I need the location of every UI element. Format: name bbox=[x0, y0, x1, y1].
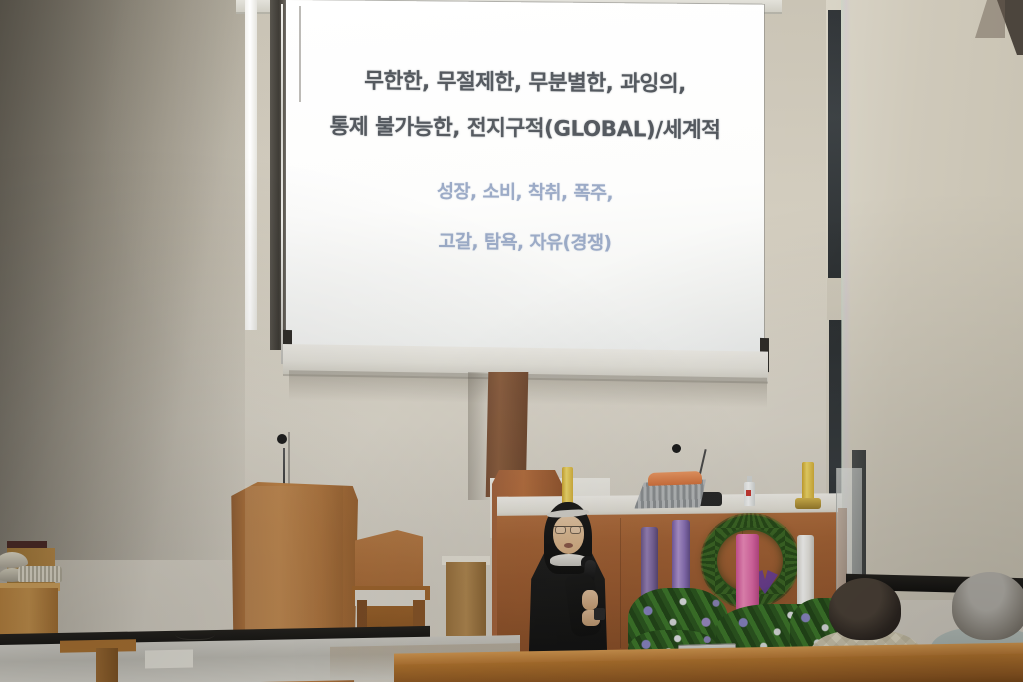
floor-paper bbox=[145, 650, 193, 669]
speaker-hand-upper bbox=[582, 590, 598, 610]
wall-shadow-left bbox=[0, 0, 245, 560]
lectern-microphone-head-icon bbox=[277, 434, 287, 444]
slide-content: 무한한, 무절제한, 무분별한, 과잉의, 통제 불가능한, 전지구적(GLOB… bbox=[286, 0, 764, 357]
brass-candlestick bbox=[795, 498, 821, 509]
screen-side-strip bbox=[245, 0, 257, 330]
liturgical-vessel-3 bbox=[18, 566, 62, 582]
pew-left-leg bbox=[96, 648, 118, 682]
slide-line-3: 성장, 소비, 착취, 폭주, bbox=[286, 166, 764, 221]
speaker-face bbox=[553, 516, 584, 554]
audience-member-1-head bbox=[829, 578, 901, 640]
scene-photograph: 무한한, 무절제한, 무분별한, 과잉의, 통제 불가능한, 전지구적(GLOB… bbox=[0, 0, 1023, 682]
screen-left-frame bbox=[270, 0, 286, 350]
presenter-remote[interactable] bbox=[594, 608, 605, 620]
wall-stripe-upper bbox=[828, 10, 841, 278]
side-stand bbox=[446, 562, 486, 636]
slide-line-4: 고갈, 탐욕, 자유(경쟁) bbox=[286, 216, 764, 271]
speaker-mouth bbox=[564, 543, 573, 548]
slide-line-1: 무한한, 무절제한, 무분별한, 과잉의, bbox=[286, 58, 764, 109]
slide-line-2: 통제 불가능한, 전지구적(GLOBAL)/세계적 bbox=[286, 104, 764, 155]
speaker-glasses-left-lens bbox=[555, 526, 566, 534]
altar-panel-seam-1 bbox=[620, 518, 621, 648]
wall-stripe-gap bbox=[827, 278, 842, 320]
altar-microphone-head-icon bbox=[672, 444, 681, 453]
lectern-microphone-cable bbox=[288, 432, 290, 492]
sanitizer-bottle-label bbox=[746, 490, 751, 496]
screen-cord-secondary bbox=[299, 6, 301, 102]
floor-cable bbox=[175, 626, 215, 640]
projection-screen: 무한한, 무절제한, 무분별한, 과잉의, 통제 불가능한, 전지구적(GLOB… bbox=[286, 0, 764, 357]
speaker-glasses-right-lens bbox=[570, 526, 581, 534]
screen-pull-cord[interactable] bbox=[281, 4, 283, 364]
book-stand-cover bbox=[648, 471, 702, 486]
audience-member-2-head bbox=[952, 572, 1023, 640]
